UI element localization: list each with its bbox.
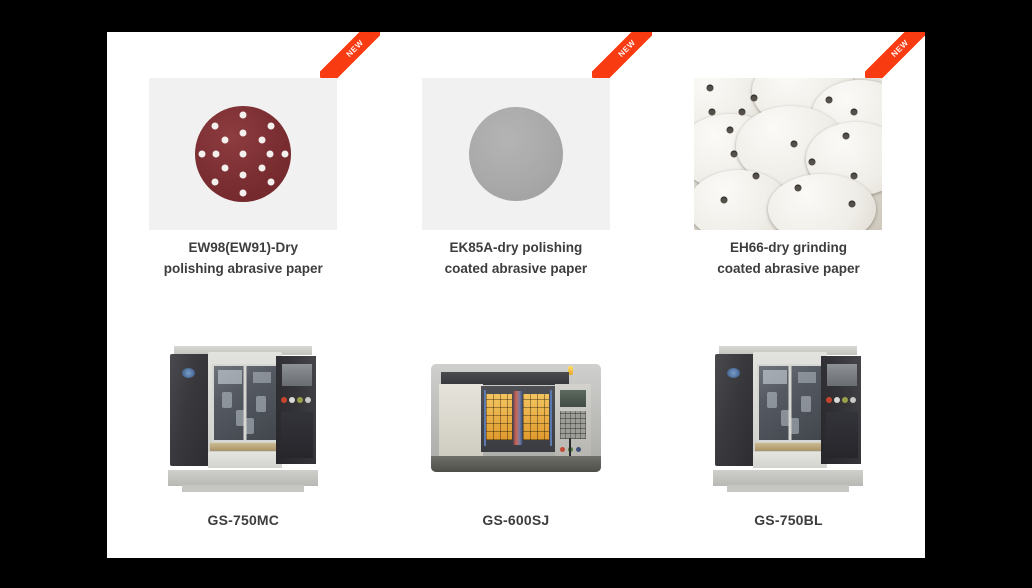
product-card-ew98[interactable]: NEW xyxy=(107,32,380,322)
machine-row: GS-750MC xyxy=(107,322,925,558)
grinding-disc-pile-graphic xyxy=(694,78,882,230)
caption-line-1: EH66-dry grinding xyxy=(660,238,917,259)
product-caption: EH66-dry grinding coated abrasive paper xyxy=(660,238,917,280)
new-badge-label: NEW xyxy=(617,38,638,59)
caption-line-1: EK85A-dry polishing xyxy=(388,238,645,259)
machine-caption: GS-750MC xyxy=(115,512,372,528)
product-card-ek85a[interactable]: NEW EK85A-dry polishing coated abrasive … xyxy=(380,32,653,322)
product-card-gs750mc[interactable]: GS-750MC xyxy=(107,322,380,558)
new-badge-label: NEW xyxy=(344,38,365,59)
new-badge-label: NEW xyxy=(889,38,910,59)
caption-line-1: EW98(EW91)-Dry xyxy=(115,238,372,259)
caption-line-2: coated abrasive paper xyxy=(660,259,917,280)
polishing-disc-graphic xyxy=(469,107,563,201)
product-card-gs600sj[interactable]: GS-600SJ xyxy=(380,322,653,558)
product-caption: EW98(EW91)-Dry polishing abrasive paper xyxy=(115,238,372,280)
cnc-machine-gs600sj-image xyxy=(427,360,605,476)
white-grinding-disc-pile-image xyxy=(694,78,882,230)
cnc-machine-graphic xyxy=(705,342,871,492)
sanding-disc-graphic xyxy=(195,106,291,202)
caption-line-2: coated abrasive paper xyxy=(388,259,645,280)
caption-line-2: polishing abrasive paper xyxy=(115,259,372,280)
maroon-sanding-disc-image xyxy=(149,78,337,230)
cnc-machine-gs750mc-image xyxy=(160,342,326,492)
cnc-machine-graphic xyxy=(160,342,326,492)
abrasive-paper-row: NEW xyxy=(107,32,925,322)
machine-caption: GS-600SJ xyxy=(388,512,645,528)
cnc-machine-gs750bl-image xyxy=(705,342,871,492)
gray-polishing-disc-image xyxy=(422,78,610,230)
wide-cnc-machine-graphic xyxy=(427,360,605,476)
product-card-gs750bl[interactable]: GS-750BL xyxy=(652,322,925,558)
product-card-eh66[interactable]: NEW xyxy=(652,32,925,322)
product-grid-panel: NEW xyxy=(107,32,925,558)
machine-caption: GS-750BL xyxy=(660,512,917,528)
page-frame: NEW xyxy=(0,0,1032,588)
product-caption: EK85A-dry polishing coated abrasive pape… xyxy=(388,238,645,280)
